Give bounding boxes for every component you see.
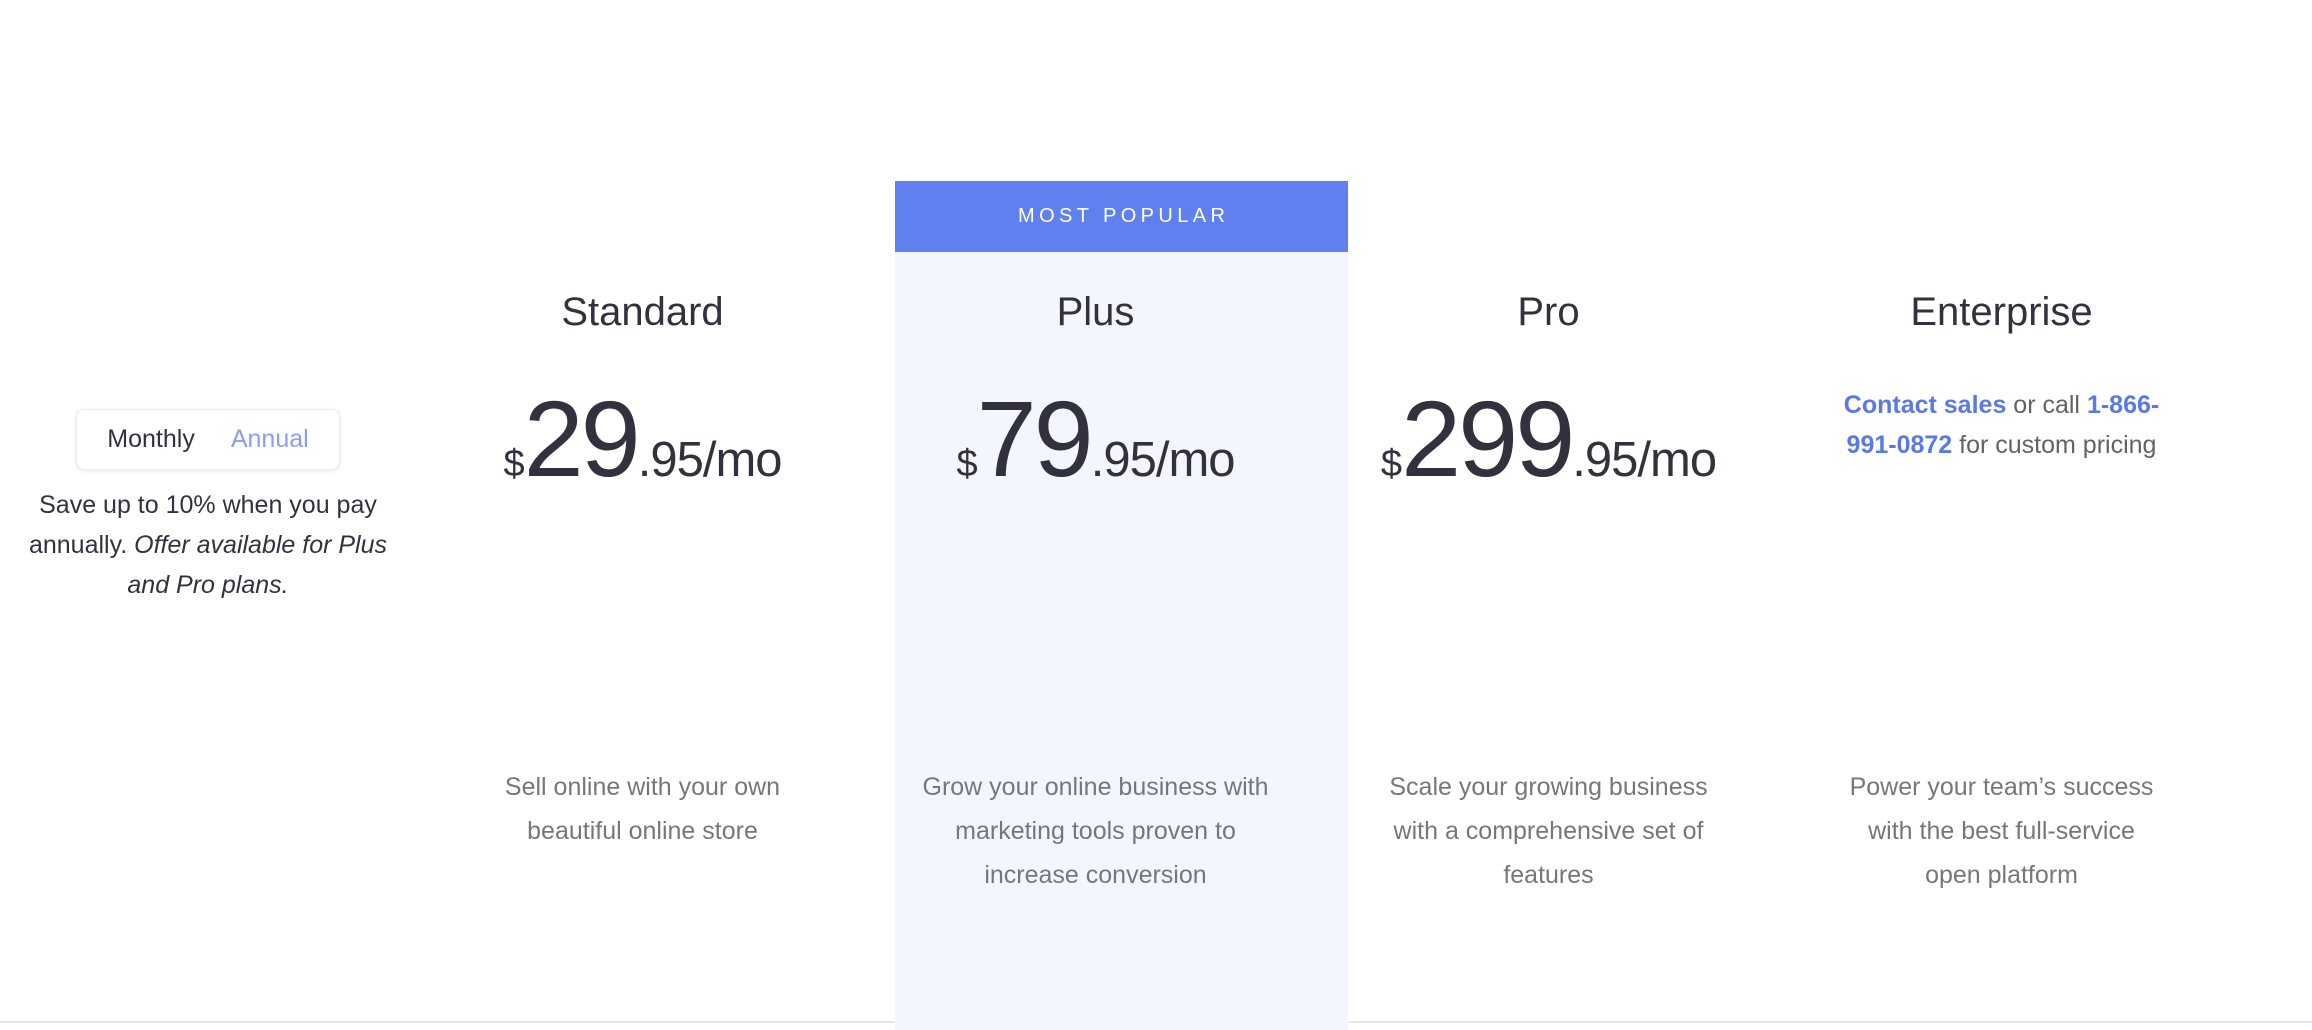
plan-description-enterprise: Power your team’s success with the best …: [1775, 765, 2228, 897]
price-whole-amount: 299: [1401, 378, 1572, 499]
price-currency-symbol: $: [503, 443, 523, 485]
price-currency-symbol: $: [1381, 443, 1401, 485]
plan-price-pro: $299.95/mo: [1322, 385, 1775, 493]
plan-title-pro: Pro: [1322, 292, 1775, 332]
billing-period-toggle[interactable]: Monthly Annual: [76, 409, 339, 470]
price-whole-amount: 29: [524, 378, 638, 499]
contact-mid-text: or call: [2006, 391, 2087, 419]
contact-tail-text: for custom pricing: [1952, 431, 2156, 459]
plan-price-standard: $29.95/mo: [416, 385, 869, 493]
price-cents: .95: [638, 433, 703, 487]
enterprise-contact-block: Contact sales or call 1-866-991-0872 for…: [1775, 385, 2228, 465]
billing-toggle-wrap: Monthly Annual: [72, 409, 344, 470]
contact-sales-link[interactable]: Contact sales: [1844, 391, 2007, 419]
price-cents: .95: [1091, 433, 1156, 487]
annual-savings-note: Save up to 10% when you pay annually. Of…: [12, 485, 404, 605]
plan-title-plus: Plus: [869, 292, 1322, 332]
plan-card-standard[interactable]: Standard $29.95/mo Sell online with your…: [416, 0, 869, 1030]
plan-description-plus: Grow your online business with marketing…: [869, 765, 1322, 897]
plan-title-enterprise: Enterprise: [1775, 292, 2228, 332]
savings-note-italic: Offer available for Plus and Pro plans.: [127, 531, 387, 599]
price-period: /mo: [1637, 433, 1716, 487]
price-whole-amount: 79: [977, 378, 1091, 499]
pricing-columns: Monthly Annual Save up to 10% when you p…: [0, 0, 2312, 1030]
plan-description-pro: Scale your growing business with a compr…: [1322, 765, 1775, 897]
billing-toggle-annual[interactable]: Annual: [231, 427, 309, 452]
plan-price-plus: $79.95/mo: [869, 385, 1322, 493]
plan-card-enterprise[interactable]: Enterprise Contact sales or call 1-866-9…: [1775, 0, 2228, 1030]
pricing-page: MOST POPULAR Monthly Annual Save up to 1…: [0, 0, 2312, 1030]
plan-title-standard: Standard: [416, 292, 869, 332]
plan-description-standard: Sell online with your own beautiful onli…: [416, 765, 869, 853]
price-currency-symbol: $: [956, 443, 976, 485]
billing-info-column: Monthly Annual Save up to 10% when you p…: [0, 0, 416, 1030]
price-period: /mo: [1156, 433, 1235, 487]
price-cents: .95: [1572, 433, 1637, 487]
billing-toggle-monthly[interactable]: Monthly: [107, 427, 195, 452]
plan-card-pro[interactable]: Pro $299.95/mo Scale your growing busine…: [1322, 0, 1775, 1030]
plan-card-plus[interactable]: Plus $79.95/mo Grow your online business…: [869, 0, 1322, 1030]
price-period: /mo: [703, 433, 782, 487]
